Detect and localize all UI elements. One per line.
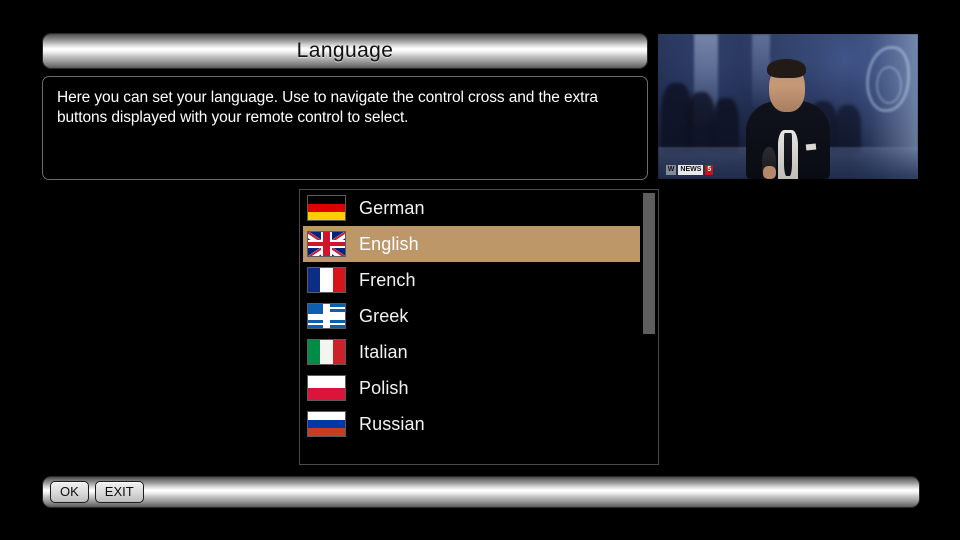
video-preview[interactable]: W NEWS 5 bbox=[657, 33, 919, 180]
channel-bug: W NEWS 5 bbox=[666, 165, 714, 175]
video-crowd-figure bbox=[713, 98, 739, 153]
video-crowd-figure bbox=[835, 105, 861, 153]
flag-polish-icon bbox=[307, 375, 346, 401]
list-scrollbar[interactable] bbox=[643, 193, 655, 463]
list-item-label: Polish bbox=[359, 378, 409, 399]
footer-bar: OK EXIT bbox=[42, 476, 920, 508]
video-reporter-hand bbox=[763, 166, 776, 179]
list-scrollbar-thumb[interactable] bbox=[643, 193, 655, 334]
video-reporter-hair bbox=[767, 59, 806, 78]
flag-italian-icon bbox=[307, 339, 346, 365]
list-item-label: Greek bbox=[359, 306, 409, 327]
channel-bug-part-2: NEWS bbox=[678, 165, 703, 175]
list-item-label: Russian bbox=[359, 414, 425, 435]
page-title: Language bbox=[297, 39, 394, 63]
flag-russian-icon bbox=[307, 411, 346, 437]
description-box: Here you can set your language. Use to n… bbox=[42, 76, 648, 180]
flag-english-icon bbox=[307, 231, 346, 257]
ok-button[interactable]: OK bbox=[50, 481, 89, 503]
exit-button[interactable]: EXIT bbox=[95, 481, 144, 503]
list-item[interactable]: Russian bbox=[303, 406, 640, 442]
list-item[interactable]: Italian bbox=[303, 334, 640, 370]
list-item[interactable]: French bbox=[303, 262, 640, 298]
page-title-bar: Language bbox=[42, 33, 648, 69]
video-reporter-tie bbox=[784, 133, 792, 177]
language-list: German English French bbox=[300, 190, 644, 442]
list-item[interactable]: Greek bbox=[303, 298, 640, 334]
list-item-label: Italian bbox=[359, 342, 408, 363]
language-list-panel[interactable]: German English French bbox=[299, 189, 659, 465]
flag-greek-icon bbox=[307, 303, 346, 329]
flag-german-icon bbox=[307, 195, 346, 221]
list-item-label: French bbox=[359, 270, 416, 291]
list-item[interactable]: Polish bbox=[303, 370, 640, 406]
list-item[interactable]: German bbox=[303, 190, 640, 226]
video-wall-ornament-2 bbox=[876, 66, 902, 104]
channel-bug-part-1: W bbox=[666, 165, 677, 175]
list-item-label: German bbox=[359, 198, 425, 219]
flag-french-icon bbox=[307, 267, 346, 293]
channel-bug-part-3: 5 bbox=[705, 165, 713, 175]
video-crowd-figure bbox=[687, 92, 716, 153]
tv-settings-screen: Language Here you can set your language.… bbox=[0, 0, 960, 540]
list-item-label: English bbox=[359, 234, 419, 255]
description-text: Here you can set your language. Use to n… bbox=[57, 88, 633, 128]
list-item-selected[interactable]: English bbox=[303, 226, 640, 262]
